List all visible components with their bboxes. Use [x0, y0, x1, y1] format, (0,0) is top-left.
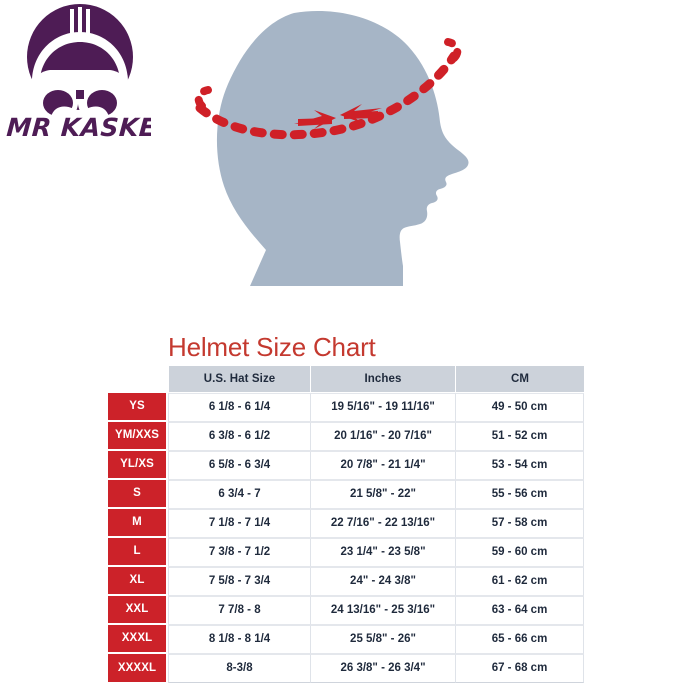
table-header: U.S. Hat Size Inches CM: [108, 366, 584, 393]
hat-size-value: 7 7/8 - 8: [168, 596, 310, 625]
brand-wordmark: MR KASKET: [6, 108, 151, 148]
table-row: XXXL 8 1/8 - 8 1/4 25 5/8" - 26" 65 - 66…: [108, 625, 584, 654]
tape-end-left: [199, 90, 208, 106]
helmet-size-chart-section: Helmet Size Chart U.S. Hat Size Inches C…: [0, 328, 700, 688]
table-row: YS 6 1/8 - 6 1/4 19 5/16" - 19 11/16" 49…: [108, 393, 584, 422]
head-with-tape-measure-svg: [186, 4, 506, 304]
table-row: M 7 1/8 - 7 1/4 22 7/16" - 22 13/16" 57 …: [108, 509, 584, 538]
table-row: YL/XS 6 5/8 - 6 3/4 20 7/8" - 21 1/4" 53…: [108, 451, 584, 480]
cm-value: 55 - 56 cm: [455, 480, 584, 509]
inches-value: 20 1/16" - 20 7/16": [310, 422, 455, 451]
inches-value: 20 7/8" - 21 1/4": [310, 451, 455, 480]
cm-value: 61 - 62 cm: [455, 567, 584, 596]
table-row: L 7 3/8 - 7 1/2 23 1/4" - 23 5/8" 59 - 6…: [108, 538, 584, 567]
brand-name-text: MR KASKET: [6, 113, 151, 142]
hat-size-value: 6 5/8 - 6 3/4: [168, 451, 310, 480]
cm-value: 59 - 60 cm: [455, 538, 584, 567]
table-body: YS 6 1/8 - 6 1/4 19 5/16" - 19 11/16" 49…: [108, 393, 584, 683]
size-label: XL: [108, 567, 168, 596]
cm-value: 49 - 50 cm: [455, 393, 584, 422]
hat-size-value: 7 3/8 - 7 1/2: [168, 538, 310, 567]
table-row: S 6 3/4 - 7 21 5/8" - 22" 55 - 56 cm: [108, 480, 584, 509]
size-label: L: [108, 538, 168, 567]
inches-value: 22 7/16" - 22 13/16": [310, 509, 455, 538]
inches-value: 24" - 24 3/8": [310, 567, 455, 596]
table-row: YM/XXS 6 3/8 - 6 1/2 20 1/16" - 20 7/16"…: [108, 422, 584, 451]
cm-value: 53 - 54 cm: [455, 451, 584, 480]
size-label: XXXL: [108, 625, 168, 654]
inches-value: 25 5/8" - 26": [310, 625, 455, 654]
hat-size-value: 7 1/8 - 7 1/4: [168, 509, 310, 538]
hat-size-value: 6 3/8 - 6 1/2: [168, 422, 310, 451]
cm-value: 51 - 52 cm: [455, 422, 584, 451]
motorcycle-helmet-glasses-moustache-icon: [8, 4, 158, 116]
brand-wordmark-text: MR KASKET: [6, 108, 151, 148]
head-silhouette: [217, 11, 469, 286]
hat-size-value: 6 3/4 - 7: [168, 480, 310, 509]
column-header-inches: Inches: [310, 366, 455, 393]
inches-value: 19 5/16" - 19 11/16": [310, 393, 455, 422]
head-profile-illustration: [186, 4, 506, 304]
hat-size-value: 6 1/8 - 6 1/4: [168, 393, 310, 422]
page-title: Helmet Size Chart: [168, 332, 376, 363]
table-row: XL 7 5/8 - 7 3/4 24" - 24 3/8" 61 - 62 c…: [108, 567, 584, 596]
column-header-cm: CM: [455, 366, 584, 393]
size-label: YM/XXS: [108, 422, 168, 451]
inches-value: 24 13/16" - 25 3/16": [310, 596, 455, 625]
column-header-us-hat-size: U.S. Hat Size: [168, 366, 310, 393]
hat-size-value: 7 5/8 - 7 3/4: [168, 567, 310, 596]
cm-value: 57 - 58 cm: [455, 509, 584, 538]
size-label: M: [108, 509, 168, 538]
size-label: XXL: [108, 596, 168, 625]
inches-value: 21 5/8" - 22": [310, 480, 455, 509]
cm-value: 67 - 68 cm: [455, 654, 584, 683]
size-chart-table: U.S. Hat Size Inches CM YS 6 1/8 - 6 1/4…: [108, 366, 584, 683]
size-label: XXXXL: [108, 654, 168, 683]
inches-value: 23 1/4" - 23 5/8": [310, 538, 455, 567]
size-label: YL/XS: [108, 451, 168, 480]
table-corner-cell: [108, 366, 168, 393]
table-header-row: U.S. Hat Size Inches CM: [108, 366, 584, 393]
cm-value: 65 - 66 cm: [455, 625, 584, 654]
hat-size-value: 8 1/8 - 8 1/4: [168, 625, 310, 654]
size-label: YS: [108, 393, 168, 422]
size-label: S: [108, 480, 168, 509]
table-row: XXL 7 7/8 - 8 24 13/16" - 25 3/16" 63 - …: [108, 596, 584, 625]
hat-size-value: 8-3/8: [168, 654, 310, 683]
cm-value: 63 - 64 cm: [455, 596, 584, 625]
inches-value: 26 3/8" - 26 3/4": [310, 654, 455, 683]
table-row: XXXXL 8-3/8 26 3/8" - 26 3/4" 67 - 68 cm: [108, 654, 584, 683]
